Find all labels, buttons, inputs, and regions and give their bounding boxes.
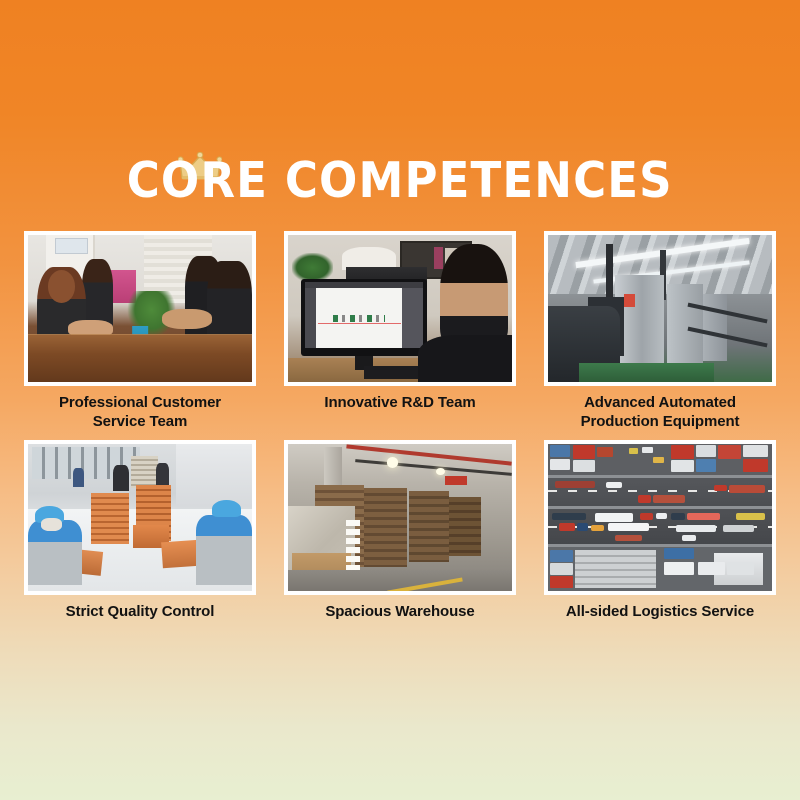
competence-tile-grid: Professional Customer Service Team	[24, 231, 776, 621]
tile-caption: Professional Customer Service Team	[24, 393, 256, 431]
competence-tile-advanced-automated-production-equipment[interactable]: Advanced Automated Production Equipment	[544, 231, 776, 431]
competence-tile-all-sided-logistics-service[interactable]: All-sided Logistics Service	[544, 440, 776, 621]
photo-frame	[24, 231, 256, 386]
core-competences-poster: CORE COMPETENCES Professional Customer S…	[0, 0, 800, 800]
photo-customer-service-meeting	[28, 235, 252, 382]
photo-frame	[544, 231, 776, 386]
photo-frame	[284, 231, 516, 386]
caption-line-1: Strict Quality Control	[24, 602, 256, 621]
tile-caption: All-sided Logistics Service	[544, 602, 776, 621]
photo-warehouse-pallets	[288, 444, 512, 591]
caption-line-2: Service Team	[24, 412, 256, 431]
caption-line-1: Professional Customer	[24, 393, 256, 412]
caption-line-1: Spacious Warehouse	[284, 602, 516, 621]
photo-frame	[544, 440, 776, 595]
tile-caption: Advanced Automated Production Equipment	[544, 393, 776, 431]
competence-tile-strict-quality-control[interactable]: Strict Quality Control	[24, 440, 256, 621]
photo-quality-control-inspection	[28, 444, 252, 591]
photo-frame	[284, 440, 516, 595]
tile-caption: Strict Quality Control	[24, 602, 256, 621]
caption-line-1: Advanced Automated	[544, 393, 776, 412]
caption-line-2: Production Equipment	[544, 412, 776, 431]
title-block: CORE COMPETENCES	[0, 150, 800, 212]
tile-caption: Spacious Warehouse	[284, 602, 516, 621]
photo-rd-designer-monitor	[288, 235, 512, 382]
competence-tile-spacious-warehouse[interactable]: Spacious Warehouse	[284, 440, 516, 621]
caption-line-1: Innovative R&D Team	[284, 393, 516, 412]
tile-caption: Innovative R&D Team	[284, 393, 516, 412]
competence-tile-innovative-rd-team[interactable]: Innovative R&D Team	[284, 231, 516, 431]
competence-tile-professional-customer-service-team[interactable]: Professional Customer Service Team	[24, 231, 256, 431]
photo-frame	[24, 440, 256, 595]
photo-printing-press-line	[548, 235, 772, 382]
photo-aerial-container-logistics	[548, 444, 772, 591]
caption-line-1: All-sided Logistics Service	[544, 602, 776, 621]
page-title: CORE COMPETENCES	[127, 150, 673, 212]
